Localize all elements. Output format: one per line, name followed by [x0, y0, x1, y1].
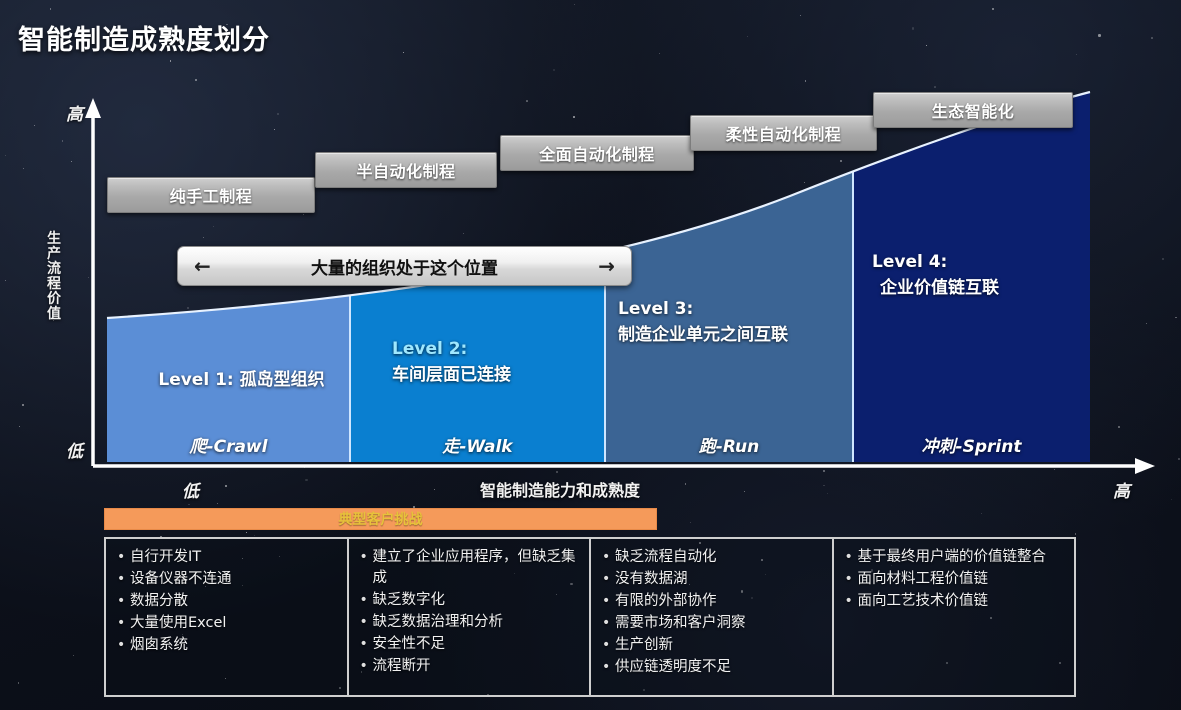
process-step-box-1[interactable]: 纯手工制程: [107, 177, 315, 213]
process-step-label: 半自动化制程: [356, 158, 455, 182]
challenge-item: 没有数据湖: [615, 569, 826, 590]
challenge-item: 大量使用Excel: [130, 613, 341, 634]
challenges-column-1: 自行开发IT设备仪器不连通数据分散大量使用Excel烟囱系统: [106, 539, 349, 695]
level-4-title: Level 4:: [872, 250, 947, 275]
level-3-subtitle: 制造企业单元之间互联: [618, 323, 788, 348]
callout-text: 大量的组织处于这个位置: [311, 254, 498, 279]
challenges-column-2: 建立了企业应用程序，但缺乏集成缺乏数字化缺乏数据治理和分析安全性不足流程断开: [349, 539, 592, 695]
challenge-item: 需要市场和客户洞察: [615, 613, 826, 634]
challenge-item: 安全性不足: [373, 634, 584, 655]
challenges-list-3: 缺乏流程自动化没有数据湖有限的外部协作需要市场和客户洞察生产创新供应链透明度不足: [601, 547, 826, 678]
process-step-label: 柔性自动化制程: [726, 121, 842, 145]
challenge-item: 面向材料工程价值链: [858, 569, 1069, 590]
level-4-footer: 冲刺-Sprint: [853, 432, 1090, 457]
challenges-column-3: 缺乏流程自动化没有数据湖有限的外部协作需要市场和客户洞察生产创新供应链透明度不足: [591, 539, 834, 695]
level-2-footer: 走-Walk: [350, 432, 605, 457]
challenges-banner: 典型客户挑战: [104, 508, 657, 530]
y-axis-low-label: 低: [66, 437, 83, 462]
process-step-box-2[interactable]: 半自动化制程: [315, 152, 497, 188]
challenge-item: 有限的外部协作: [615, 591, 826, 612]
challenges-table: 自行开发IT设备仪器不连通数据分散大量使用Excel烟囱系统 建立了企业应用程序…: [104, 537, 1076, 697]
level-2-title: Level 2:: [392, 337, 467, 362]
x-axis: [93, 458, 1155, 474]
challenge-item: 面向工艺技术价值链: [858, 591, 1069, 612]
challenge-item: 流程断开: [373, 656, 584, 677]
challenges-list-1: 自行开发IT设备仪器不连通数据分散大量使用Excel烟囱系统: [116, 547, 341, 656]
process-step-box-4[interactable]: 柔性自动化制程: [690, 115, 877, 151]
challenge-item: 基于最终用户端的价值链整合: [858, 547, 1069, 568]
y-axis: [85, 98, 101, 466]
level-1-title: Level 1: 孤岛型组织: [134, 368, 349, 393]
challenge-item: 烟囱系统: [130, 635, 341, 656]
callout-banner[interactable]: ← 大量的组织处于这个位置 →: [177, 246, 632, 286]
x-axis-title: 智能制造能力和成熟度: [480, 477, 640, 501]
level-3-footer: 跑-Run: [605, 432, 853, 457]
challenges-list-2: 建立了企业应用程序，但缺乏集成缺乏数字化缺乏数据治理和分析安全性不足流程断开: [359, 547, 584, 677]
level-2-subtitle: 车间层面已连接: [392, 363, 511, 388]
challenge-item: 供应链透明度不足: [615, 657, 826, 678]
page-title: 智能制造成熟度划分: [18, 18, 270, 57]
x-axis-low-label: 低: [182, 477, 199, 502]
process-step-box-5[interactable]: 生态智能化: [873, 92, 1073, 128]
arrow-right-icon: →: [598, 254, 615, 278]
y-axis-title: 生产流程价值: [44, 232, 64, 322]
process-step-box-3[interactable]: 全面自动化制程: [500, 135, 694, 171]
challenges-banner-label: 典型客户挑战: [339, 509, 423, 529]
challenge-item: 自行开发IT: [130, 547, 341, 568]
challenge-item: 设备仪器不连通: [130, 569, 341, 590]
challenge-item: 生产创新: [615, 635, 826, 656]
challenge-item: 建立了企业应用程序，但缺乏集成: [373, 547, 584, 589]
challenge-item: 缺乏流程自动化: [615, 547, 826, 568]
x-axis-high-label: 高: [1113, 477, 1130, 502]
level-4-subtitle: 企业价值链互联: [880, 276, 999, 301]
y-axis-high-label: 高: [66, 100, 83, 125]
challenges-column-4: 基于最终用户端的价值链整合面向材料工程价值链面向工艺技术价值链: [834, 539, 1075, 695]
process-step-label: 生态智能化: [932, 98, 1015, 122]
level-3-title: Level 3:: [618, 297, 693, 322]
process-step-label: 全面自动化制程: [539, 141, 655, 165]
process-step-label: 纯手工制程: [170, 183, 253, 207]
challenges-list-4: 基于最终用户端的价值链整合面向材料工程价值链面向工艺技术价值链: [844, 547, 1069, 612]
arrow-left-icon: ←: [194, 254, 211, 278]
challenge-item: 数据分散: [130, 591, 341, 612]
level-1-footer: 爬-Crawl: [107, 432, 350, 457]
challenge-item: 缺乏数字化: [373, 590, 584, 611]
challenge-item: 缺乏数据治理和分析: [373, 612, 584, 633]
slide-canvas: 智能制造成熟度划分: [0, 0, 1181, 710]
